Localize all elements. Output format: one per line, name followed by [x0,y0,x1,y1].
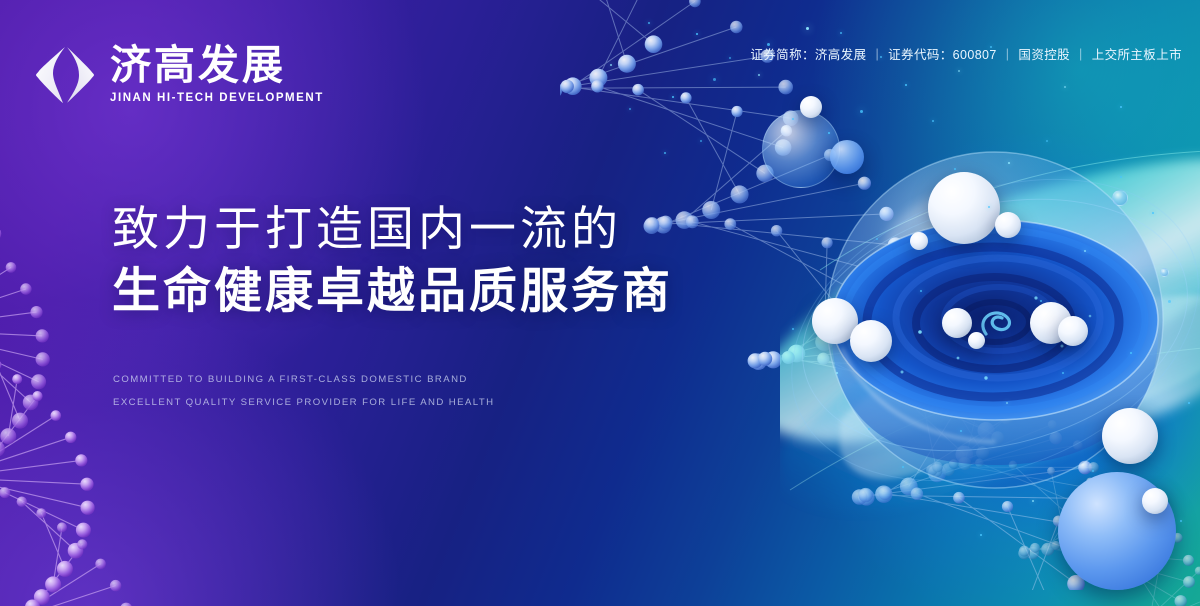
particle-dot [700,140,702,142]
particle-dot [1120,106,1122,108]
sphere-white-right-cluster [1030,302,1072,344]
particle-dot [980,534,982,536]
brand-logo-text: 济高发展 JINAN HI-TECH DEVELOPMENT [110,45,324,105]
particle-dot [629,108,631,110]
particle-dot [1180,520,1182,522]
particle-dot [648,22,650,24]
particle-dot [792,118,794,120]
sphere-white-small-b [910,232,928,250]
particle-dot [1064,86,1066,88]
subtitle-block: COMMITTED TO BUILDING A FIRST-CLASS DOME… [113,368,494,414]
particle-dot [840,32,842,34]
sphere-white-mid-left [812,298,858,344]
sphere-white-center-b [968,332,985,349]
sphere-white-mid-left-b [850,320,892,362]
particle-dot [1040,300,1042,302]
particle-dot [672,96,674,98]
particle-dot [902,466,904,468]
sphere-white-helix-orb [800,96,822,118]
hero-banner: 济高发展 JINAN HI-TECH DEVELOPMENT 证券简称：济高发展… [0,0,1200,606]
sphere-white-small-a [995,212,1021,238]
brand-name-en: JINAN HI-TECH DEVELOPMENT [110,93,324,105]
particle-dot [1062,372,1064,374]
sphere-white-right-cluster-b [1058,316,1088,346]
sphere-glass-top-left [762,110,840,188]
particle-dot [836,372,838,374]
particle-dot [1032,500,1034,502]
subtitle-line-2: EXCELLENT QUALITY SERVICE PROVIDER FOR L… [113,391,494,414]
separator-2: | [1006,47,1010,61]
stock-info-item-code: 证券代码：600807 [888,44,997,63]
particle-dot [876,238,878,240]
glow-bottom-left [0,300,410,606]
particle-dot [696,33,698,35]
particle-dot [1130,352,1132,354]
particle-dot [1188,402,1190,404]
particle-dot [954,168,956,170]
dna-helix-teal-icon [900,380,1200,606]
separator-1: | [875,47,879,61]
stock-info-item-owner: 国资控股 [1018,44,1070,63]
particle-dot [1046,140,1048,142]
headline-block: 致力于打造国内一流的 生命健康卓越品质服务商 [112,203,673,319]
headline-line-1: 致力于打造国内一流的 [112,203,673,258]
stock-info-bar: 证券简称：济高发展 | 证券代码：600807 | 国资控股 | 上交所主板上市 [750,44,1182,63]
jinan-hi-tech-diamond-logo-icon [34,44,96,106]
glass-dome-centerpiece [790,120,1200,560]
headline-line-2: 生命健康卓越品质服务商 [112,264,673,320]
sphere-white-center-a [942,308,972,338]
particle-dot [792,328,794,330]
particle-dot [920,290,922,292]
sphere-glass-small [1112,190,1128,206]
separator-3: | [1079,47,1083,61]
particle-dot [610,64,612,66]
glow-core [900,210,1200,570]
particle-dot [958,70,960,72]
particle-dot [1006,402,1008,404]
sphere-white-far-right [1102,408,1158,464]
stock-info-item-abbr: 证券简称：济高发展 [750,44,866,63]
sphere-blue-large-bottom [1058,472,1176,590]
sphere-white-large-top [928,172,1000,244]
particle-dot [905,84,907,86]
particle-dot [1092,470,1094,472]
teal-ribbons-decor [780,120,1200,550]
sphere-glass-tiny [1160,268,1169,277]
subtitle-line-1: COMMITTED TO BUILDING A FIRST-CLASS DOME… [113,368,494,391]
particle-dot [868,428,870,430]
brand-logo[interactable]: 济高发展 JINAN HI-TECH DEVELOPMENT [34,44,324,106]
sphere-white-on-blue [1142,488,1168,514]
sphere-blue-helix-orb [830,140,864,174]
glow-center-right [780,120,1200,606]
particle-dot [1008,162,1010,164]
brand-name-cn: 济高发展 [110,45,324,86]
particle-dot [1152,212,1154,214]
particle-dot [960,430,962,432]
particle-dot [664,152,666,154]
stock-info-item-market: 上交所主板上市 [1092,44,1182,63]
particle-dot [758,74,760,76]
particle-dot [932,120,934,122]
particle-dot [1150,452,1152,454]
particle-dot [1120,176,1122,178]
particle-dot [1168,300,1171,303]
particle-dot [806,27,809,30]
particle-dot [729,57,731,59]
particle-dot [713,78,716,81]
particle-dot [828,132,830,134]
particle-dot [860,110,863,113]
particle-dot [1084,250,1086,252]
particle-dot [988,206,990,208]
